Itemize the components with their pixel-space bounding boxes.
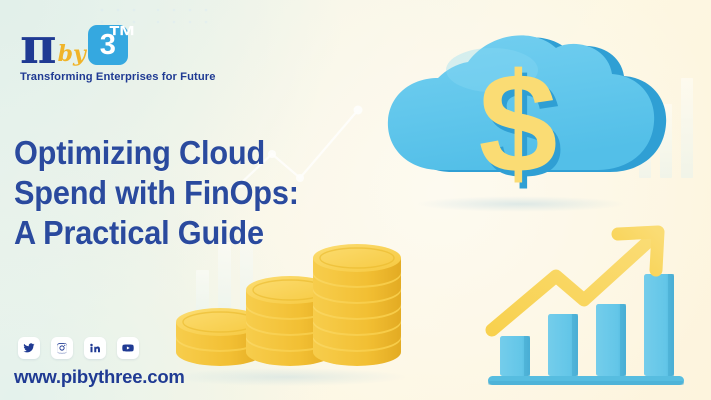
cloud-ground-shadow	[416, 196, 626, 212]
three-tile: 3 ™	[88, 25, 128, 65]
coin-stacks-illustration	[170, 240, 405, 390]
trademark-symbol: ™	[108, 23, 137, 52]
instagram-icon[interactable]	[51, 337, 73, 359]
chart-bar-2	[548, 314, 578, 376]
coins-ground-shadow	[170, 368, 405, 386]
svg-text:$: $	[479, 48, 558, 198]
dollar-sign-icon: $ $	[468, 48, 578, 198]
logo-mark: π by 3 ™	[20, 18, 216, 68]
brand-tagline: Transforming Enterprises for Future	[20, 71, 216, 83]
page-title: Optimizing Cloud Spend with FinOps: A Pr…	[14, 133, 299, 253]
social-links	[18, 337, 139, 359]
coin-stack-tall	[313, 244, 401, 366]
growth-chart-illustration	[480, 218, 695, 393]
youtube-icon[interactable]	[117, 337, 139, 359]
twitter-icon[interactable]	[18, 337, 40, 359]
title-line-1: Optimizing Cloud	[14, 133, 299, 173]
cloud-illustration: $ $	[372, 18, 672, 228]
chart-bar-1	[500, 336, 530, 376]
blog-banner: π by 3 ™ Transforming Enterprises for Fu…	[0, 0, 711, 400]
company-logo[interactable]: π by 3 ™ Transforming Enterprises for Fu…	[20, 18, 216, 83]
pi-glyph: π	[20, 24, 56, 68]
chart-bar-3	[596, 304, 626, 376]
linkedin-icon[interactable]	[84, 337, 106, 359]
chart-bar-4	[644, 274, 674, 376]
by-text: by	[58, 44, 86, 64]
website-url[interactable]: www.pibythree.com	[14, 366, 185, 388]
title-line-2: Spend with FinOps:	[14, 173, 299, 213]
